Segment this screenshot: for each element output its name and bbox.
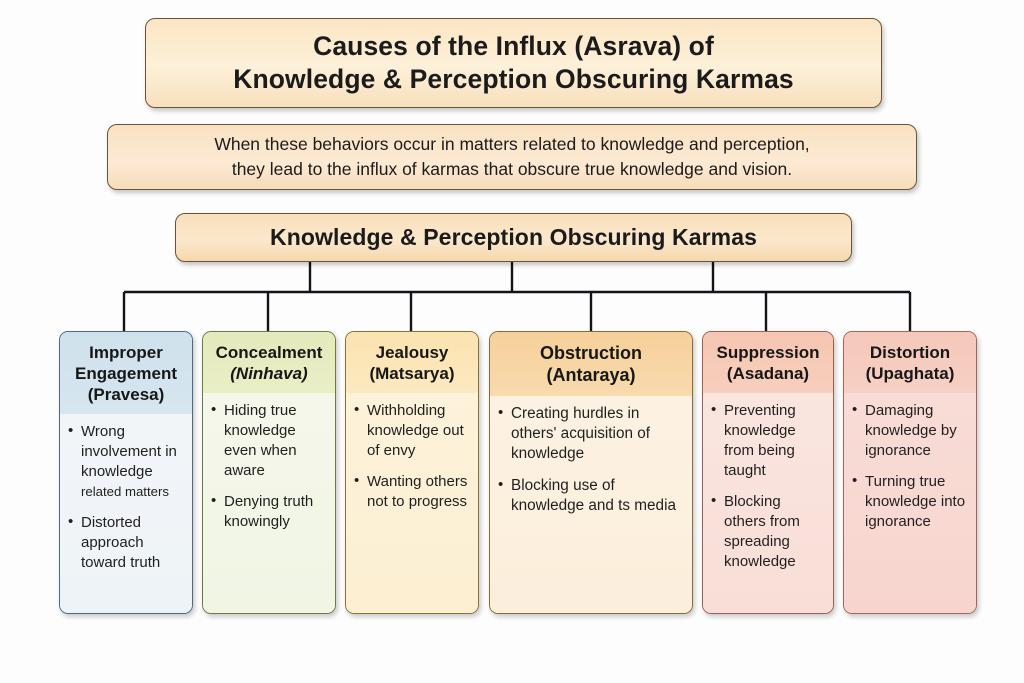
list-item: Wrong involvement in knowledge related m…	[68, 422, 183, 502]
list-item: Preventing knowledge from being taught	[711, 401, 824, 481]
card-header-6: Distortion (Upaghata)	[844, 332, 976, 393]
card-body-3: Withholding knowledge out of envy Wantin…	[346, 393, 478, 613]
page-title: Causes of the Influx (Asrava) of Knowled…	[233, 30, 794, 96]
point-text: Blocking use of knowledge and ts media	[511, 477, 676, 514]
list-item: Blocking use of knowledge and ts media	[498, 476, 683, 517]
diagram-canvas: Causes of the Influx (Asrava) of Knowled…	[0, 0, 1024, 683]
point-text: Creating hurdles in others' acquisition …	[511, 405, 650, 463]
card-body-6: Damaging knowledge by ignorance Turning …	[844, 393, 976, 613]
list-item: Distorted approach toward truth	[68, 513, 183, 573]
card-term-5: (Asadana)	[709, 363, 827, 384]
card-points-5: Preventing knowledge from being taught B…	[711, 401, 824, 572]
point-text: Blocking others from spreading knowledge	[724, 493, 800, 570]
card-points-1: Wrong involvement in knowledge related m…	[68, 422, 183, 573]
card-term-4: (Antaraya)	[496, 364, 686, 386]
list-item: Wanting others not to progress	[354, 472, 469, 512]
point-text: Wrong involvement in knowledge	[81, 423, 177, 480]
card-title-4: Obstruction	[540, 343, 642, 363]
list-item: Blocking others from spreading knowledge	[711, 492, 824, 572]
point-text: Preventing knowledge from being taught	[724, 402, 796, 479]
card-distortion[interactable]: Distortion (Upaghata) Damaging knowledge…	[843, 331, 977, 614]
card-points-3: Withholding knowledge out of envy Wantin…	[354, 401, 469, 512]
point-text: Wanting others not to progress	[367, 473, 467, 510]
card-term-3: (Matsarya)	[352, 363, 472, 384]
card-header-4: Obstruction (Antaraya)	[490, 332, 692, 396]
card-title-5: Suppression	[717, 343, 820, 362]
card-obstruction[interactable]: Obstruction (Antaraya) Creating hurdles …	[489, 331, 693, 614]
point-text: Withholding knowledge out of envy	[367, 402, 464, 459]
card-improper-engagement[interactable]: Improper Engagement (Pravesa) Wrong invo…	[59, 331, 193, 614]
point-text: Damaging knowledge by ignorance	[865, 402, 957, 459]
subtitle-line-2: they lead to the influx of karmas that o…	[232, 159, 792, 179]
card-body-1: Wrong involvement in knowledge related m…	[60, 414, 192, 613]
card-title-2: Concealment	[216, 343, 323, 362]
card-term-1: (Pravesa)	[66, 384, 186, 405]
card-suppression[interactable]: Suppression (Asadana) Preventing knowled…	[702, 331, 834, 614]
point-text: Turning true knowledge into ignorance	[865, 473, 965, 530]
subtitle-line-1: When these behaviors occur in matters re…	[214, 134, 809, 154]
list-item: Damaging knowledge by ignorance	[852, 401, 967, 461]
list-item: Denying truth knowingly	[211, 492, 326, 532]
card-points-6: Damaging knowledge by ignorance Turning …	[852, 401, 967, 532]
list-item: Hiding true knowledge even when aware	[211, 401, 326, 481]
card-title-3: Jealousy	[376, 343, 449, 362]
subtitle-box: When these behaviors occur in matters re…	[107, 124, 917, 190]
point-text-small: related matters	[81, 484, 169, 499]
card-header-2: Concealment (Ninhava)	[203, 332, 335, 393]
hub-label: Knowledge & Perception Obscuring Karmas	[270, 224, 757, 251]
list-item: Creating hurdles in others' acquisition …	[498, 404, 683, 465]
list-item: Turning true knowledge into ignorance	[852, 472, 967, 532]
card-points-2: Hiding true knowledge even when aware De…	[211, 401, 326, 532]
card-header-1: Improper Engagement (Pravesa)	[60, 332, 192, 414]
card-body-4: Creating hurdles in others' acquisition …	[490, 396, 692, 613]
card-jealousy[interactable]: Jealousy (Matsarya) Withholding knowledg…	[345, 331, 479, 614]
card-title-6: Distortion	[870, 343, 950, 362]
point-text: Denying truth knowingly	[224, 493, 313, 530]
card-term-6: (Upaghata)	[850, 363, 970, 384]
card-concealment[interactable]: Concealment (Ninhava) Hiding true knowle…	[202, 331, 336, 614]
card-body-5: Preventing knowledge from being taught B…	[703, 393, 833, 613]
title-box: Causes of the Influx (Asrava) of Knowled…	[145, 18, 882, 108]
hub-box: Knowledge & Perception Obscuring Karmas	[175, 213, 852, 262]
card-header-3: Jealousy (Matsarya)	[346, 332, 478, 393]
title-line-1: Causes of the Influx (Asrava) of	[313, 31, 714, 61]
card-term-2: (Ninhava)	[209, 363, 329, 384]
card-points-4: Creating hurdles in others' acquisition …	[498, 404, 683, 517]
title-line-2: Knowledge & Perception Obscuring Karmas	[233, 64, 794, 94]
card-body-2: Hiding true knowledge even when aware De…	[203, 393, 335, 613]
card-title-1-line2: Engagement	[75, 364, 177, 383]
card-title-1-line1: Improper	[89, 343, 163, 362]
list-item: Withholding knowledge out of envy	[354, 401, 469, 461]
point-text: Distorted approach toward truth	[81, 514, 160, 571]
card-header-5: Suppression (Asadana)	[703, 332, 833, 393]
point-text: Hiding true knowledge even when aware	[224, 402, 297, 479]
subtitle-text: When these behaviors occur in matters re…	[214, 132, 809, 182]
